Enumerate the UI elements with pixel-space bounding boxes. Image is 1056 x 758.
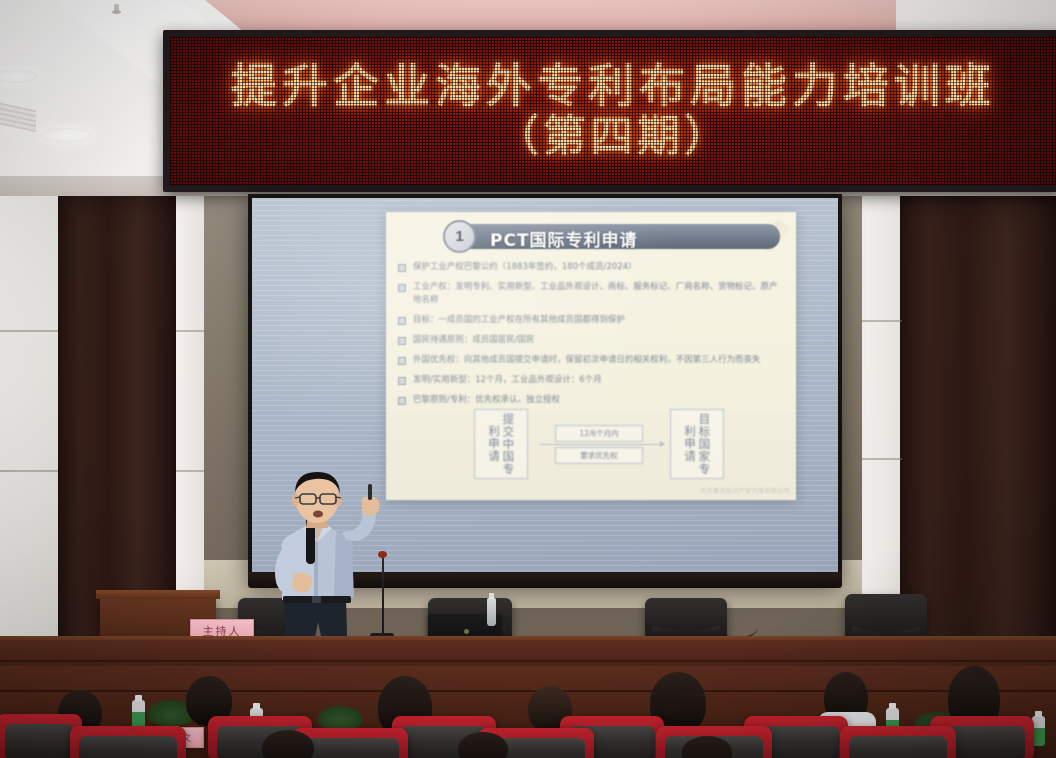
- wall-panel-light: [862, 196, 902, 662]
- fire-sprinkler-icon: [112, 4, 121, 17]
- panel-seam: [862, 320, 902, 322]
- potted-plant: [318, 706, 362, 730]
- panel-seam: [176, 470, 204, 472]
- led-banner-text: 提升企业海外专利布局能力培训班 （第四期）: [170, 37, 1056, 185]
- panel-seam: [176, 330, 204, 332]
- panel-seam: [0, 330, 58, 332]
- audience-head: [458, 732, 508, 758]
- audience-wall-seam: [0, 690, 1056, 692]
- wall-panel-light: [0, 196, 58, 666]
- wall-panel-dark: [900, 196, 1056, 662]
- led-banner-line2: （第四期）: [496, 115, 731, 160]
- seminar-photograph: 提升企业海外专利布局能力培训班 （第四期） 1 PCT国际专利申请 保护工业产权…: [0, 0, 1056, 758]
- panel-seam: [862, 458, 902, 460]
- ceiling-light-glow: [160, 0, 900, 34]
- led-banner: 提升企业海外专利布局能力培训班 （第四期）: [163, 30, 1056, 192]
- audience-seat: [70, 726, 186, 758]
- podium-top: [96, 590, 220, 599]
- led-banner-line1: 提升企业海外专利布局能力培训班: [231, 62, 996, 110]
- head-table-seam: [0, 660, 1056, 662]
- audience-head: [262, 730, 314, 758]
- recessed-downlight-icon: [40, 128, 92, 142]
- panel-seam: [0, 470, 58, 472]
- led-banner-screen: 提升企业海外专利布局能力培训班 （第四期）: [170, 37, 1056, 185]
- audience-seat: [840, 726, 956, 758]
- water-bottle: [487, 598, 496, 626]
